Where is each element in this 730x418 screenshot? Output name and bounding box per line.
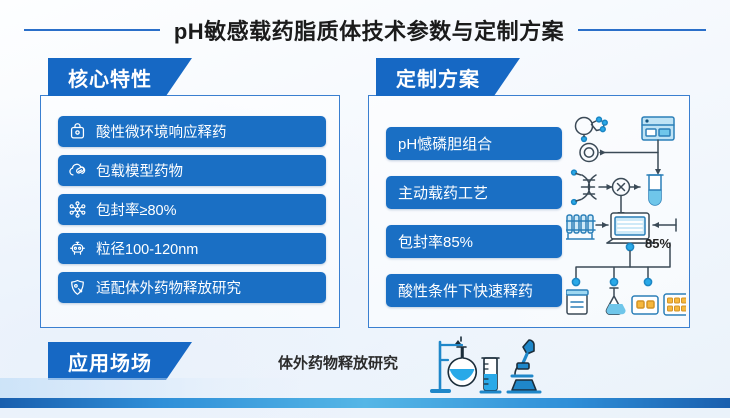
core-features-list: 酸性微环境响应释药 包载模型药物: [58, 116, 326, 303]
capsule-cloud-icon: [68, 161, 87, 180]
molecule-icon: [68, 200, 87, 219]
list-item-label: 包载模型药物: [96, 160, 183, 181]
nanoparticle-icon: [68, 239, 87, 258]
title-rule-left: [24, 29, 160, 31]
list-item-label: 包封率≥80%: [96, 199, 176, 220]
shield-drop-icon: [68, 278, 87, 297]
usecase-banner: 应用场场: [48, 342, 192, 380]
page-title: pH敏感载药脂质体技术参数与定制方案: [174, 14, 564, 46]
list-item[interactable]: 包载模型药物: [58, 155, 326, 186]
title-rule-right: [578, 29, 706, 31]
process-flow-illustration: [566, 112, 686, 317]
encapsulation-percent-label: 85%: [645, 236, 671, 251]
slide-canvas: pH敏感载药脂质体技术参数与定制方案 核心特性 酸性微环境响应释药: [0, 0, 730, 418]
list-item-label: 粒径100-120nm: [96, 238, 198, 259]
list-item-label: 包封率85%: [398, 231, 473, 252]
list-item[interactable]: 酸性微环境响应释药: [58, 116, 326, 147]
core-features-banner: 核心特性: [48, 58, 192, 96]
bag-lock-icon: [68, 122, 87, 141]
custom-solution-banner: 定制方案: [376, 58, 520, 96]
lab-equipment-illustration: [428, 336, 546, 396]
footer-glow: [0, 378, 300, 398]
list-item[interactable]: 包封率≥80%: [58, 194, 326, 225]
list-item[interactable]: 酸性条件下快速释药: [386, 274, 562, 307]
list-item[interactable]: 粒径100-120nm: [58, 233, 326, 264]
footer-bar: [0, 398, 730, 408]
list-item[interactable]: pH憾磷胆组合: [386, 127, 562, 160]
page-title-bar: pH敏感载药脂质体技术参数与定制方案: [0, 12, 730, 48]
list-item-label: 酸性条件下快速释药: [398, 280, 533, 301]
list-item-label: 适配体外药物释放研究: [96, 277, 241, 298]
list-item[interactable]: 包封率85%: [386, 225, 562, 258]
usecase-text: 体外药物释放研究: [278, 352, 398, 373]
list-item[interactable]: 主动载药工艺: [386, 176, 562, 209]
list-item-label: 主动载药工艺: [398, 182, 488, 203]
list-item[interactable]: 适配体外药物释放研究: [58, 272, 326, 303]
list-item-label: pH憾磷胆组合: [398, 133, 492, 154]
custom-solution-list: pH憾磷胆组合 主动载药工艺 包封率85% 酸性条件下快速释药: [386, 127, 562, 307]
list-item-label: 酸性微环境响应释药: [96, 121, 227, 142]
